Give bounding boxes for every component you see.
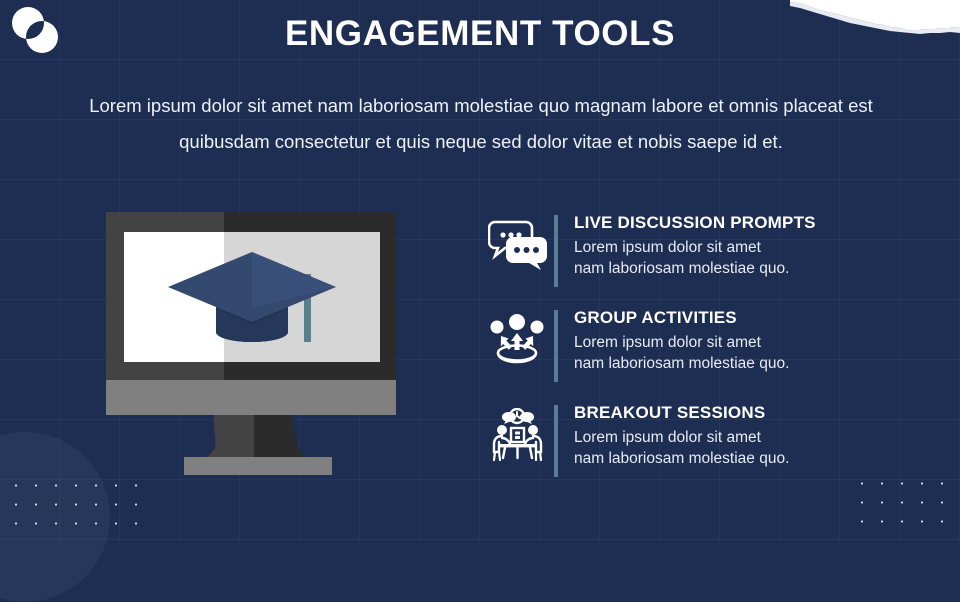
feature-desc-line1: Lorem ipsum dolor sit amet	[574, 237, 908, 258]
slide-subtitle: Lorem ipsum dolor sit amet nam laboriosa…	[58, 88, 904, 160]
speech-bubbles-icon	[488, 212, 554, 270]
feature-item-breakout-sessions[interactable]: BREAKOUT SESSIONS Lorem ipsum dolor sit …	[488, 402, 908, 497]
feature-title: LIVE DISCUSSION PROMPTS	[574, 213, 908, 233]
group-activities-icon	[488, 307, 554, 365]
feature-text: BREAKOUT SESSIONS Lorem ipsum dolor sit …	[574, 402, 908, 469]
monitor-foot	[184, 457, 332, 475]
feature-accent-bar	[554, 310, 558, 382]
feature-desc-line1: Lorem ipsum dolor sit amet	[574, 427, 908, 448]
feature-text: GROUP ACTIVITIES Lorem ipsum dolor sit a…	[574, 307, 908, 374]
feature-desc-line2: nam laboriosam molestiae quo.	[574, 258, 908, 279]
feature-text: LIVE DISCUSSION PROMPTS Lorem ipsum dolo…	[574, 212, 908, 279]
feature-list: LIVE DISCUSSION PROMPTS Lorem ipsum dolo…	[488, 212, 908, 497]
page-title: ENGAGEMENT TOOLS	[0, 14, 960, 54]
feature-accent-bar	[554, 215, 558, 287]
monitor-base	[106, 380, 396, 415]
feature-title: BREAKOUT SESSIONS	[574, 403, 908, 423]
dot-grid-decoration-left	[6, 476, 152, 534]
feature-item-group-activities[interactable]: GROUP ACTIVITIES Lorem ipsum dolor sit a…	[488, 307, 908, 402]
feature-item-live-discussion-prompts[interactable]: LIVE DISCUSSION PROMPTS Lorem ipsum dolo…	[488, 212, 908, 307]
online-graduation-monitor-illustration	[96, 212, 416, 484]
feature-title: GROUP ACTIVITIES	[574, 308, 908, 328]
monitor-stand-right	[254, 415, 306, 457]
slide-canvas: ENGAGEMENT TOOLS Lorem ipsum dolor sit a…	[0, 0, 960, 540]
breakout-meeting-icon	[488, 402, 554, 462]
feature-desc-line2: nam laboriosam molestiae quo.	[574, 448, 908, 469]
feature-accent-bar	[554, 405, 558, 477]
feature-desc-line1: Lorem ipsum dolor sit amet	[574, 332, 908, 353]
feature-desc-line2: nam laboriosam molestiae quo.	[574, 353, 908, 374]
